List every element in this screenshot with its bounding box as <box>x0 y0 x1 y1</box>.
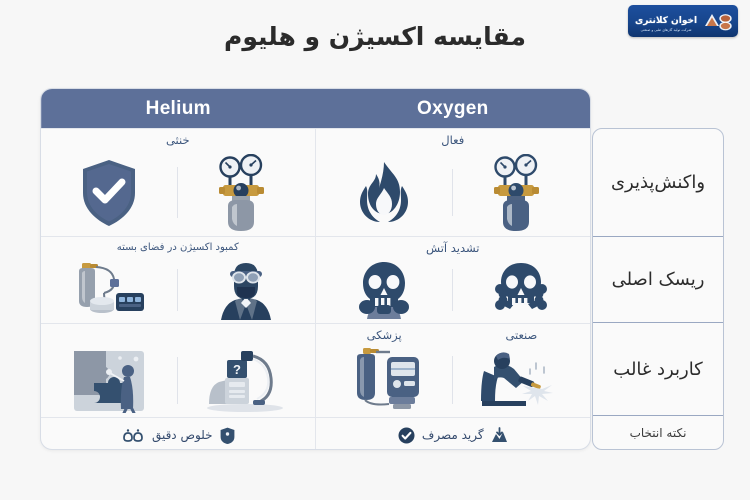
helium-cylinder-regulator-icon <box>178 154 315 232</box>
purity-glyph-icon <box>121 427 145 443</box>
table-row: فعال <box>41 128 590 236</box>
row-label-main-risk: ریسک اصلی <box>593 236 723 322</box>
worker-gas-mask-icon <box>178 260 315 320</box>
gas-cylinder-equipment-icon <box>41 261 178 319</box>
caption-oxygen-risk: تشدید آتش <box>426 243 479 257</box>
caption-oxygen-reactivity: فعال <box>441 135 464 149</box>
skull-respirator-icon <box>316 261 453 319</box>
shield-check-icon <box>41 158 178 228</box>
row-label-application: کاربرد غالب <box>593 322 723 415</box>
balloon-puzzle-icon <box>41 349 178 413</box>
row-label-reactivity: واکنش‌پذیری <box>593 129 723 236</box>
table-row-tip: گرید مصرف خلوص دقیق <box>41 417 590 450</box>
caption-oxygen-industrial: صنعتی <box>505 328 537 342</box>
infographic-page: اخوان کلانتری شرکت تولید گازهای طبی و صن… <box>0 0 750 500</box>
caption-helium-risk: کمبود اکسیژن در فضای بسته <box>117 243 239 257</box>
cell-tip-oxygen: گرید مصرف <box>316 418 591 450</box>
medical-oxygen-device-icon <box>316 347 453 413</box>
caption-oxygen-medical: پزشکی <box>367 328 402 342</box>
column-header-oxygen: Oxygen <box>316 89 591 128</box>
table-row: تشدید آتش <box>41 236 590 323</box>
shield-icon <box>220 427 235 444</box>
cell-application-oxygen: صنعتی پزشکی <box>316 324 591 417</box>
table-row: صنعتی پزشکی <box>41 323 590 417</box>
table-header-row: Oxygen Helium <box>41 89 590 128</box>
cell-reactivity-oxygen: فعال <box>316 129 591 236</box>
cell-tip-helium: خلوص دقیق <box>41 418 316 450</box>
skull-crossbones-icon <box>453 261 590 319</box>
cell-reactivity-helium: خنثی <box>41 129 316 236</box>
leak-detector-icon: ? <box>178 348 315 414</box>
page-title: مقایسه اکسیژن و هلیوم <box>0 22 750 51</box>
svg-text:?: ? <box>233 362 241 377</box>
tip-helium-text: خلوص دقیق <box>152 428 213 442</box>
flame-icon <box>316 160 453 226</box>
row-label-tip: نکته انتخاب <box>593 415 723 449</box>
comparison-table: Oxygen Helium فعال <box>40 88 591 450</box>
welder-icon <box>453 349 590 411</box>
tip-oxygen-text: گرید مصرف <box>422 428 484 442</box>
grade-arrow-icon <box>491 427 508 444</box>
oxygen-cylinder-regulator-icon <box>453 154 590 232</box>
cell-application-helium: ? <box>41 324 316 417</box>
column-header-helium: Helium <box>41 89 316 128</box>
check-circle-icon <box>398 427 415 444</box>
caption-helium-reactivity: خنثی <box>166 135 190 149</box>
cell-risk-helium: کمبود اکسیژن در فضای بسته <box>41 237 316 323</box>
cell-risk-oxygen: تشدید آتش <box>316 237 591 323</box>
row-labels-card: واکنش‌پذیری ریسک اصلی کاربرد غالب نکته ا… <box>592 128 724 450</box>
